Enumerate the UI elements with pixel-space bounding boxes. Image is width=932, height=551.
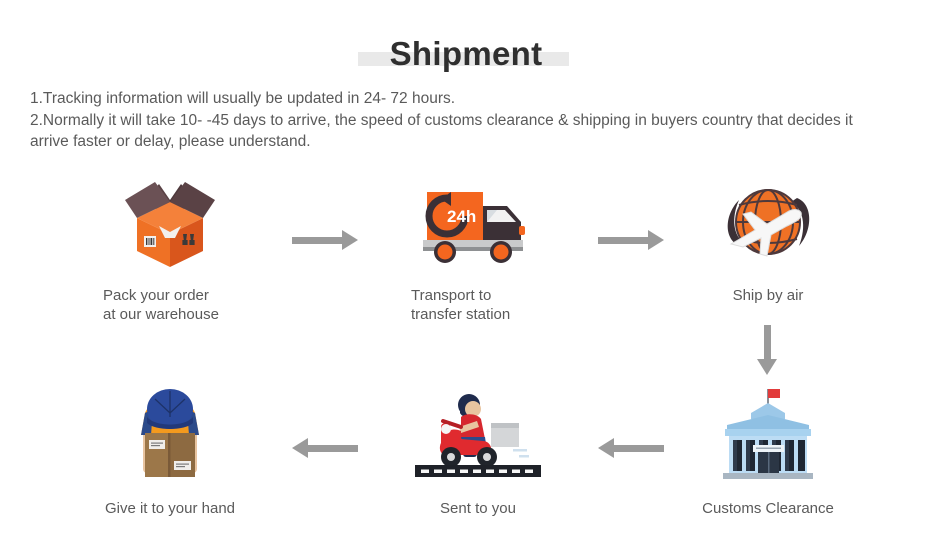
flow-step-caption: Give it to your hand [65,499,275,518]
page-title: Shipment [390,37,543,70]
shipment-note-2: 2.Normally it will take 10- -45 days to … [30,110,894,153]
flow-step-caption: Transport to transfer station [373,286,583,324]
shipment-flow: Pack your order at our warehouse [0,170,932,506]
flow-step-customs[interactable]: Customs Clearance [663,383,873,518]
shipment-notes: 1.Tracking information will usually be u… [30,88,894,153]
courier-with-box-icon [65,383,275,483]
arrow-right-icon [598,230,664,250]
flow-step-caption: Sent to you [373,499,583,518]
flow-step-sent-to-you[interactable]: Sent to you [373,383,583,518]
arrow-left-icon [292,438,358,458]
arrow-down-icon [757,325,777,375]
page-title-wrap: Shipment [0,28,932,78]
open-box-icon [65,170,275,270]
flow-step-caption: Customs Clearance [663,499,873,518]
globe-airplane-icon [663,170,873,270]
delivery-truck-icon: 24h [373,170,583,270]
delivery-scooter-icon [373,383,583,483]
flow-step-pack[interactable]: Pack your order at our warehouse [65,170,275,324]
flow-step-ship-by-air[interactable]: Ship by air [663,170,873,305]
arrow-right-icon [292,230,358,250]
flow-row-top: Pack your order at our warehouse [0,170,932,338]
flow-row-bottom: Give it to your hand [0,383,932,551]
arrow-left-icon [598,438,664,458]
flow-step-caption: Pack your order at our warehouse [65,286,275,324]
flow-step-transport[interactable]: 24h Transport to transfer station [373,170,583,324]
flow-step-hand-delivery[interactable]: Give it to your hand [65,383,275,518]
shipment-note-1: 1.Tracking information will usually be u… [30,88,894,110]
customs-building-icon [663,383,873,483]
svg-text:24h: 24h [447,207,476,226]
flow-step-caption: Ship by air [663,286,873,305]
